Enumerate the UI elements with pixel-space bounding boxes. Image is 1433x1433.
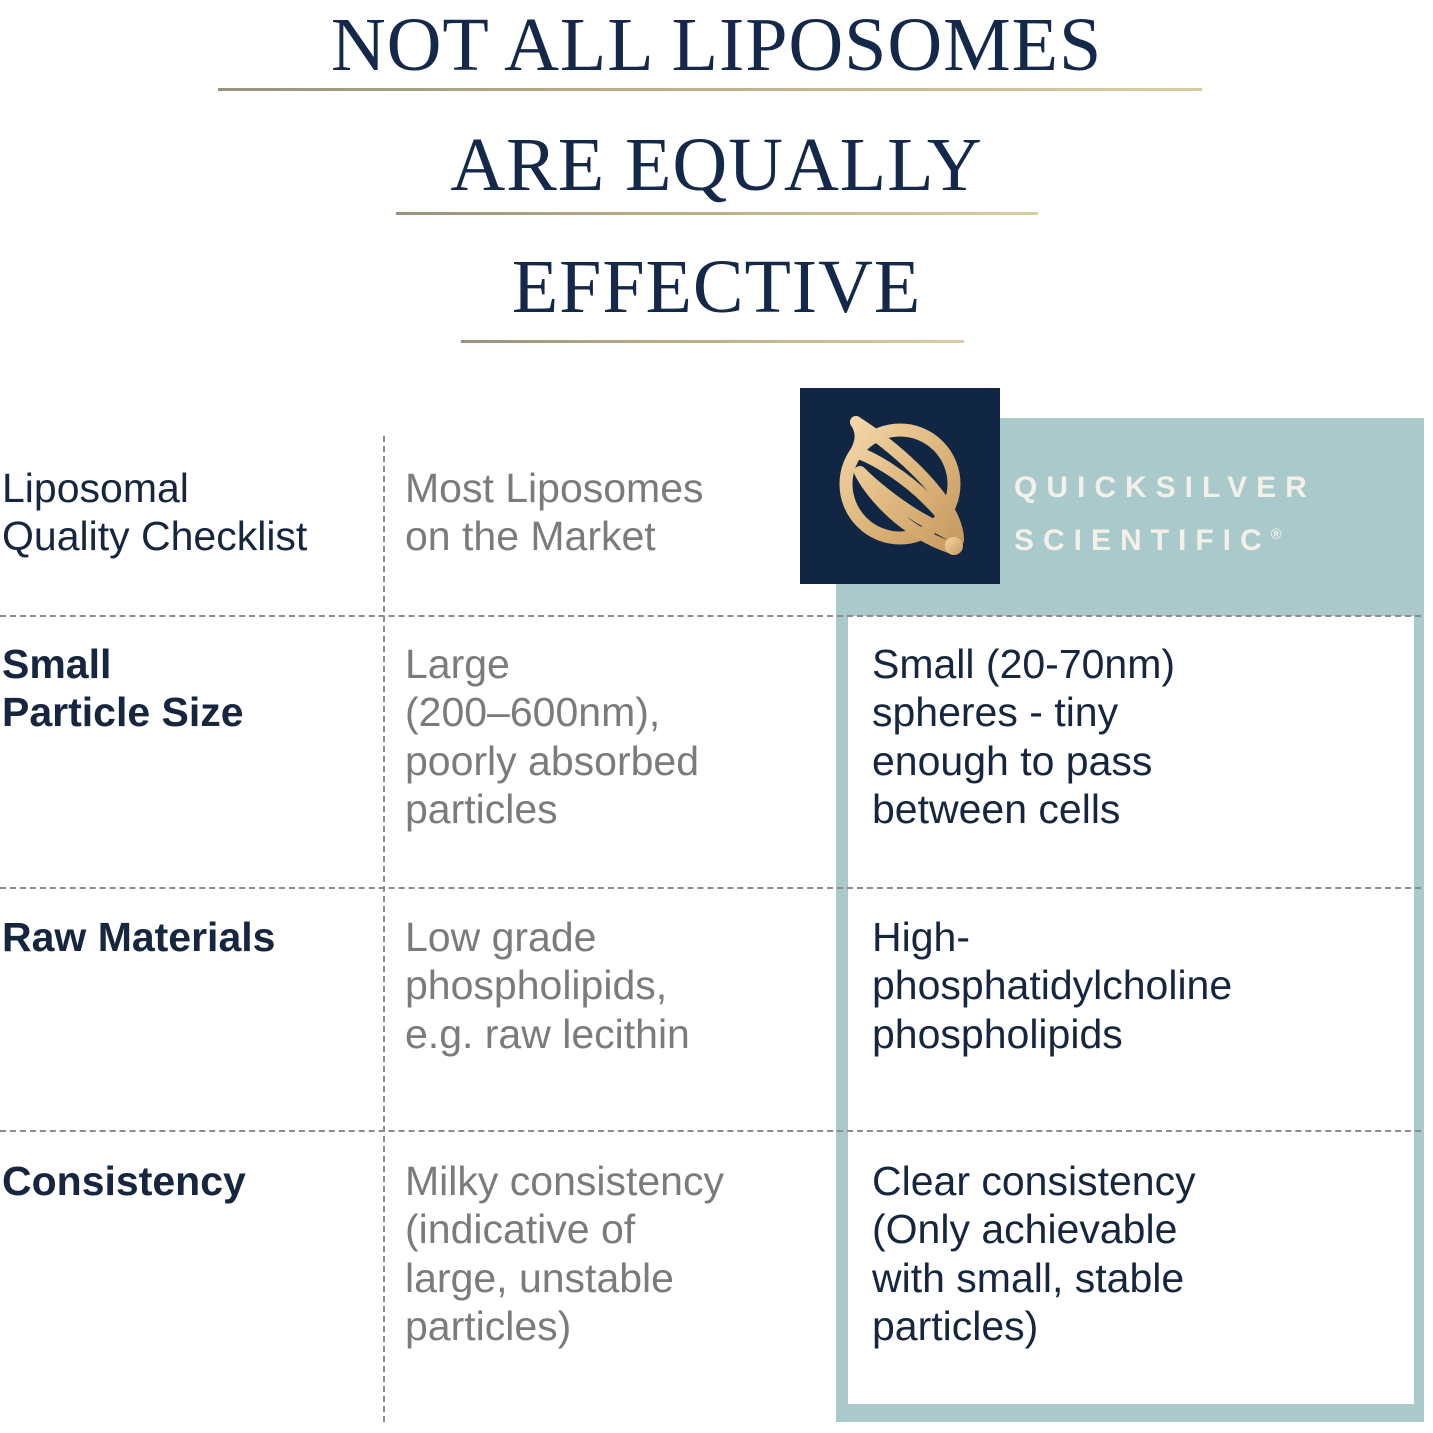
title-underline-1 (218, 88, 1202, 91)
title-underline-3 (461, 340, 964, 343)
row-quicksilver-value: Small (20-70nm)spheres - tinyenough to p… (872, 640, 1392, 834)
row-label: SmallParticle Size (0, 640, 376, 737)
row-label: Consistency (0, 1157, 376, 1205)
row-label: Raw Materials (0, 913, 376, 961)
table-header-row: LiposomalQuality Checklist Most Liposome… (0, 418, 1433, 615)
page-title-line-2: ARE EQUALLY (0, 122, 1433, 209)
table-row: Raw Materials Low gradephospholipids,e.g… (0, 887, 1433, 1130)
row-market-value: Low gradephospholipids,e.g. raw lecithin (405, 913, 825, 1058)
page-title-block: NOT ALL LIPOSOMES ARE EQUALLY EFFECTIVE (0, 0, 1433, 372)
header-checklist-label: LiposomalQuality Checklist (0, 464, 376, 561)
page-title-line-3: EFFECTIVE (0, 244, 1433, 331)
row-market-value: Large(200–600nm),poorly absorbedparticle… (405, 640, 825, 834)
row-quicksilver-value: High-phosphatidylcholinephospholipids (872, 913, 1392, 1058)
table-row: SmallParticle Size Large(200–600nm),poor… (0, 615, 1433, 887)
header-market-label: Most Liposomeson the Market (405, 464, 825, 561)
row-quicksilver-value: Clear consistency(Only achievablewith sm… (872, 1157, 1392, 1351)
row-market-value: Milky consistency(indicative oflarge, un… (405, 1157, 825, 1351)
page-title-line-1: NOT ALL LIPOSOMES (0, 2, 1433, 89)
title-underline-2 (396, 212, 1038, 215)
table-row: Consistency Milky consistency(indicative… (0, 1130, 1433, 1422)
